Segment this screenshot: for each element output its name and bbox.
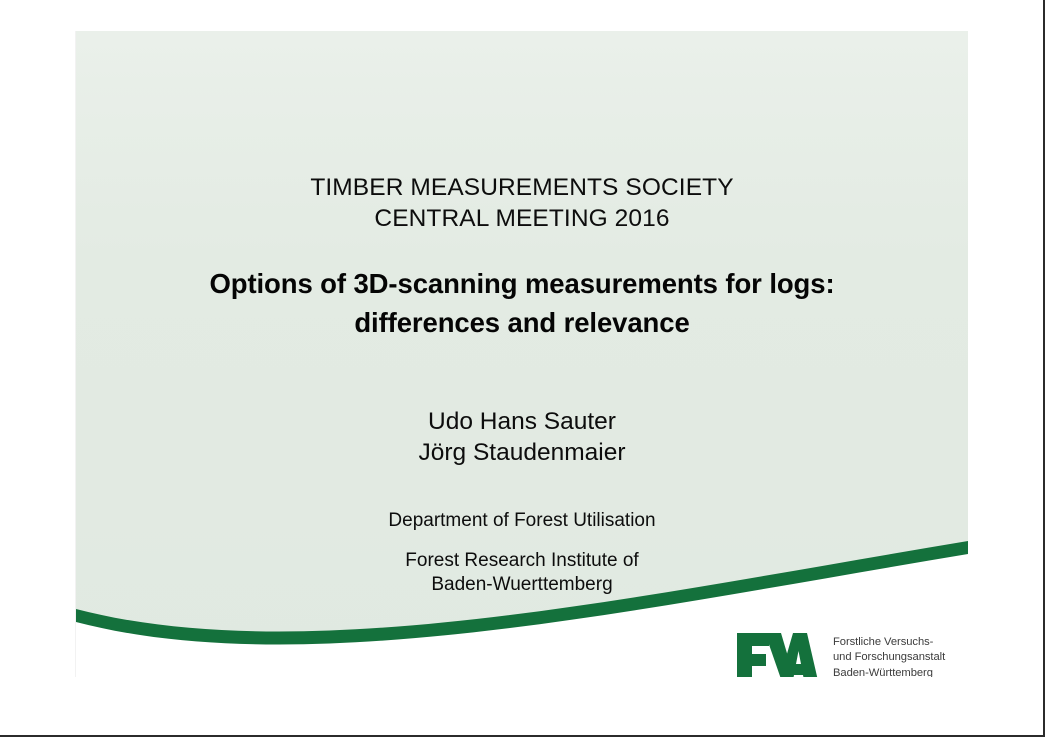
department-name: Department of Forest Utilisation — [76, 508, 968, 533]
institute-name: Forest Research Institute of Baden-Wuert… — [76, 549, 968, 597]
logo-text-line-3: Baden-Württemberg — [833, 666, 945, 677]
meeting-line-1: TIMBER MEASUREMENTS SOCIETY — [76, 172, 968, 203]
institute-line-1: Forest Research Institute of — [76, 549, 968, 573]
author-name-1: Udo Hans Sauter — [76, 406, 968, 437]
presentation-title: Options of 3D-scanning measurements for … — [76, 264, 968, 342]
logo-text-line-2: und Forschungsanstalt — [833, 650, 945, 665]
meeting-line-2: CENTRAL MEETING 2016 — [76, 203, 968, 234]
slide-canvas: TIMBER MEASUREMENTS SOCIETY CENTRAL MEET… — [76, 31, 968, 677]
title-line-2: differences and relevance — [76, 303, 968, 342]
meeting-heading: TIMBER MEASUREMENTS SOCIETY CENTRAL MEET… — [76, 172, 968, 234]
institute-line-2: Baden-Wuerttemberg — [76, 573, 968, 597]
author-list: Udo Hans Sauter Jörg Staudenmaier — [76, 406, 968, 468]
fva-logo: Forstliche Versuchs- und Forschungsansta… — [735, 627, 945, 677]
title-line-1: Options of 3D-scanning measurements for … — [76, 264, 968, 303]
fva-monogram-icon — [735, 627, 819, 677]
fva-logo-text: Forstliche Versuchs- und Forschungsansta… — [833, 635, 945, 677]
logo-text-line-1: Forstliche Versuchs- — [833, 635, 945, 650]
author-name-2: Jörg Staudenmaier — [76, 437, 968, 468]
